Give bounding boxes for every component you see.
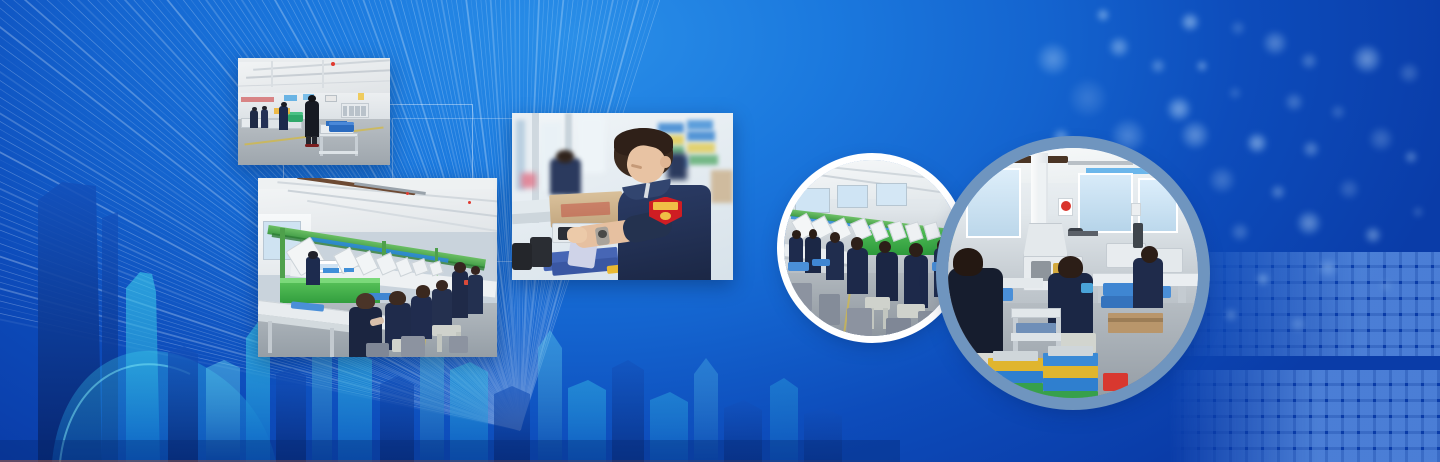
bokeh-dot [1318,258,1338,278]
bokeh-dot [1330,104,1346,120]
bokeh-dot [1262,30,1288,56]
bokeh-dot [1380,280,1392,292]
bokeh-dot [1300,52,1318,70]
bokeh-dot [1208,166,1236,194]
bokeh-dot [1166,96,1192,122]
bokeh-dot [1270,184,1286,200]
bokeh-dot [1096,8,1110,22]
bokeh-dot [1290,316,1306,332]
bokeh-dot [1180,120,1210,150]
bokeh-dot [1296,210,1322,236]
bokeh-dot [1404,150,1418,164]
bokeh-dot [1230,222,1250,242]
bokeh-dot [1108,36,1130,58]
bokeh-dot [1368,126,1394,152]
bokeh-dot [1364,226,1382,244]
circle-workbench-row[interactable] [784,160,960,336]
bokeh-dot [1352,44,1382,74]
bokeh-dot [1302,140,1320,158]
bokeh-dot [1228,86,1242,100]
bokeh-dot [1246,132,1268,154]
bokeh-dot [1180,12,1200,32]
banner-root [0,0,1440,462]
bokeh-dot [1284,92,1304,112]
bokeh-dot [1052,128,1070,146]
bokeh-dot [1230,20,1246,36]
photo-assembly-hall[interactable] [238,58,390,165]
photo-worker-packing[interactable] [512,113,733,280]
bokeh-dot [1412,206,1424,218]
photo-production-line[interactable] [258,178,497,357]
bokeh-dot [1068,78,1108,118]
circle-machine-shop[interactable] [948,148,1198,398]
bokeh-dot [1036,42,1070,76]
bokeh-dot [1398,62,1420,84]
bokeh-dot [1256,272,1270,286]
bokeh-dot [1150,58,1166,74]
bokeh-dot [1338,178,1360,200]
bokeh-dot [1224,308,1238,322]
bokeh-dot [1196,60,1208,72]
